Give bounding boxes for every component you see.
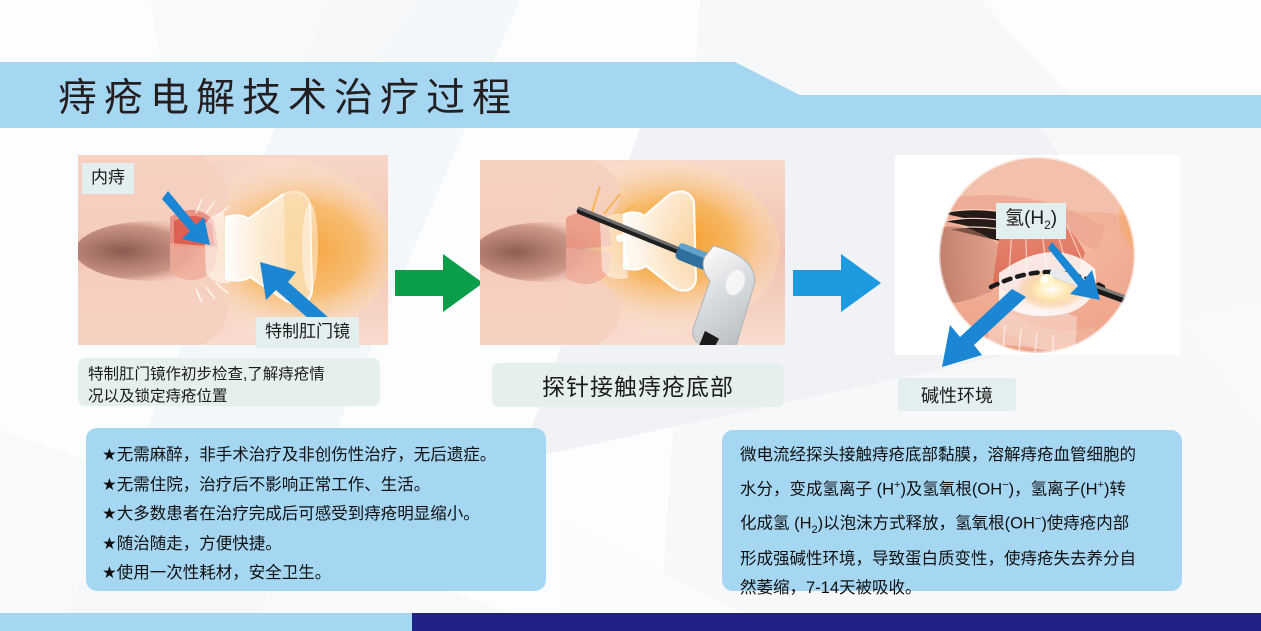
mechanism-line: 水分，变成氢离子 (H+)及氢氧根(OH−)，氢离子(H+)转 bbox=[740, 471, 1166, 505]
footer-segment-left bbox=[0, 613, 412, 631]
benefit-item: ★使用一次性耗材，安全卫生。 bbox=[102, 559, 532, 589]
bullet-marker: ★ bbox=[102, 535, 117, 553]
label-special-anoscope-text: 特制肛门镜 bbox=[265, 322, 350, 341]
probe-illustration bbox=[480, 160, 785, 345]
bullet-marker: ★ bbox=[102, 505, 117, 523]
benefit-item: ★大多数患者在治疗完成后可感受到痔疮明显缩小。 bbox=[102, 500, 532, 530]
label-special-anoscope: 特制肛门镜 bbox=[256, 317, 359, 348]
label-hydrogen-gas: 氢(H2) bbox=[996, 203, 1066, 239]
mechanism-line: 微电流经探头接触痔疮底部黏膜，溶解痔疮血管细胞的 bbox=[740, 441, 1166, 471]
pointer-arrow-internal-hemorrhoid bbox=[160, 185, 220, 255]
pointer-arrow-alkaline-environment bbox=[930, 285, 1034, 377]
arrow-step-1-to-2 bbox=[395, 252, 483, 314]
arrow-step-2-to-3 bbox=[793, 252, 881, 314]
caption-step-3: 碱性环境 bbox=[898, 378, 1016, 411]
mechanism-line: 形成强碱性环境，导致蛋白质变性，使痔疮失去养分自 bbox=[740, 545, 1166, 575]
footer-segment-right bbox=[412, 613, 1261, 631]
bullet-marker: ★ bbox=[102, 446, 117, 464]
benefit-text: 大多数患者在治疗完成后可感受到痔疮明显缩小。 bbox=[117, 505, 480, 523]
page-title: 痔疮电解技术治疗过程 bbox=[58, 62, 518, 128]
benefit-text: 无需麻醉，非手术治疗及非创伤性治疗，无后遗症。 bbox=[117, 446, 497, 464]
slide-root: 痔疮电解技术治疗过程 bbox=[0, 0, 1261, 631]
mechanism-line: 化成氢 (H2)以泡沫方式释放，氢氧根(OH−)使痔疮内部 bbox=[740, 505, 1166, 545]
benefits-box: ★无需麻醉，非手术治疗及非创伤性治疗，无后遗症。 ★无需住院，治疗后不影响正常工… bbox=[86, 428, 546, 591]
benefit-text: 使用一次性耗材，安全卫生。 bbox=[117, 564, 332, 582]
mechanism-box: 微电流经探头接触痔疮底部黏膜，溶解痔疮血管细胞的 水分，变成氢离子 (H+)及氢… bbox=[722, 430, 1182, 591]
label-hydrogen-subscript: 2 bbox=[1044, 218, 1051, 232]
bullet-marker: ★ bbox=[102, 476, 117, 494]
bullet-marker: ★ bbox=[102, 564, 117, 582]
benefit-item: ★无需麻醉，非手术治疗及非创伤性治疗，无后遗症。 bbox=[102, 441, 532, 471]
benefit-text: 随治随走，方便快捷。 bbox=[117, 535, 282, 553]
pointer-arrow-hydrogen bbox=[1042, 236, 1112, 308]
label-hydrogen-prefix: 氢(H bbox=[1005, 208, 1044, 229]
illustration-step-2 bbox=[480, 160, 785, 345]
caption-step-1: 特制肛门镜作初步检查,了解痔疮情 况以及锁定痔疮位置 bbox=[78, 358, 380, 406]
caption-step-2: 探针接触痔疮底部 bbox=[492, 363, 784, 407]
footer-bar bbox=[0, 613, 1261, 631]
mechanism-line: 然萎缩，7-14天被吸收。 bbox=[740, 574, 1166, 604]
caption-step-1-line-1: 特制肛门镜作初步检查,了解痔疮情 bbox=[88, 364, 370, 386]
benefit-text: 无需住院，治疗后不影响正常工作、生活。 bbox=[117, 476, 431, 494]
benefit-item: ★随治随走，方便快捷。 bbox=[102, 530, 532, 560]
label-internal-hemorrhoid: 内痔 bbox=[82, 163, 134, 194]
caption-step-1-line-2: 况以及锁定痔疮位置 bbox=[88, 386, 370, 408]
benefit-item: ★无需住院，治疗后不影响正常工作、生活。 bbox=[102, 471, 532, 501]
label-internal-hemorrhoid-text: 内痔 bbox=[91, 168, 125, 187]
label-hydrogen-suffix: ) bbox=[1051, 208, 1057, 229]
